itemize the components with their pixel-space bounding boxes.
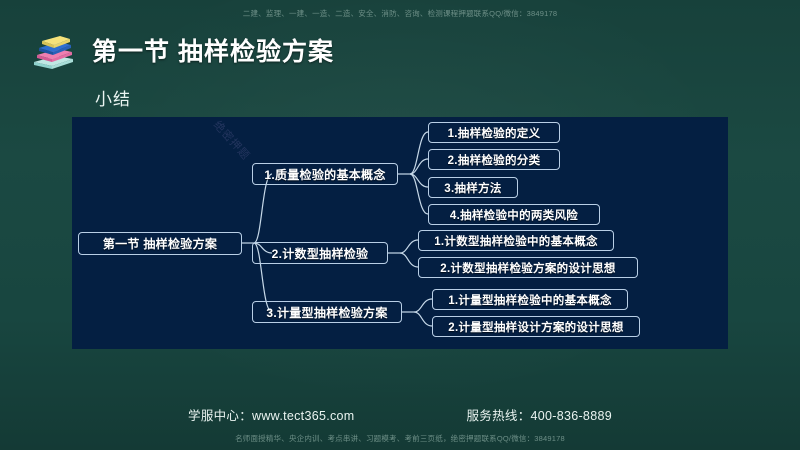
mindmap-leaf-node[interactable]: 1.计数型抽样检验中的基本概念 [418,230,614,251]
mindmap-branch-node-2[interactable]: 2.计数型抽样检验 [252,242,388,264]
mindmap-leaf-node[interactable]: 3.抽样方法 [428,177,518,198]
stacked-books-icon [30,28,76,72]
mindmap-leaf-node[interactable]: 2.计量型抽样设计方案的设计思想 [432,316,640,337]
footer-service-center: 学服中心：www.tect365.com [188,405,354,424]
top-watermark: 二建、监理、一建、一造、二造、安全、消防、咨询、检测课程押题联系QQ/微信：38… [0,9,800,19]
slide-footer: 学服中心：www.tect365.com 服务热线：400-836-8889 [0,405,800,424]
mindmap-branch-node-3[interactable]: 3.计量型抽样检验方案 [252,301,402,323]
mindmap-leaf-node[interactable]: 1.计量型抽样检验中的基本概念 [432,289,628,310]
section-subtitle: 小结 [95,85,131,110]
mindmap-leaf-node[interactable]: 4.抽样检验中的两类风险 [428,204,600,225]
page-title: 第一节 抽样检验方案 [92,32,334,68]
mindmap-leaf-node[interactable]: 2.计数型抽样检验方案的设计思想 [418,257,638,278]
mindmap-leaf-node[interactable]: 1.抽样检验的定义 [428,122,560,143]
mindmap-panel: 绝密押题 第一节 抽样检验方案 1.质量检验的基本概念 2 [72,117,728,349]
diagram-watermark: 绝密押题 [210,117,254,163]
mindmap-root-node[interactable]: 第一节 抽样检验方案 [78,232,242,255]
slide-header: 第一节 抽样检验方案 [30,28,334,72]
footer-hotline: 服务热线：400-836-8889 [467,405,612,424]
bottom-watermark: 名师面授精华、央企内训、考点串讲、习题模考、考前三页纸，绝密押题联系QQ/微信：… [0,434,800,444]
mindmap-branch-node-1[interactable]: 1.质量检验的基本概念 [252,163,398,185]
mindmap-leaf-node[interactable]: 2.抽样检验的分类 [428,149,560,170]
